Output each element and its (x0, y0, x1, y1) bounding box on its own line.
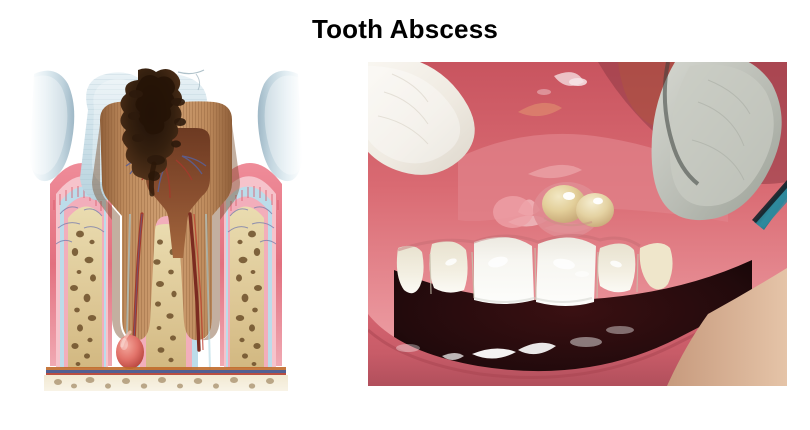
tooth-central-incisor-left (474, 237, 534, 304)
tooth-lateral-incisor-left (429, 241, 467, 292)
tooth-diagram-graphic (30, 64, 302, 391)
tooth-cross-section-illustration (30, 64, 302, 391)
tooth-lateral-incisor-right (598, 243, 635, 292)
tooth-central-incisor-right (536, 237, 596, 306)
intraoral-abscess-photograph (368, 62, 787, 386)
clinical-photo-graphic (368, 62, 787, 386)
gingival-bulge (493, 196, 533, 228)
mandibular-base (44, 367, 288, 391)
page-title: Tooth Abscess (0, 13, 810, 45)
